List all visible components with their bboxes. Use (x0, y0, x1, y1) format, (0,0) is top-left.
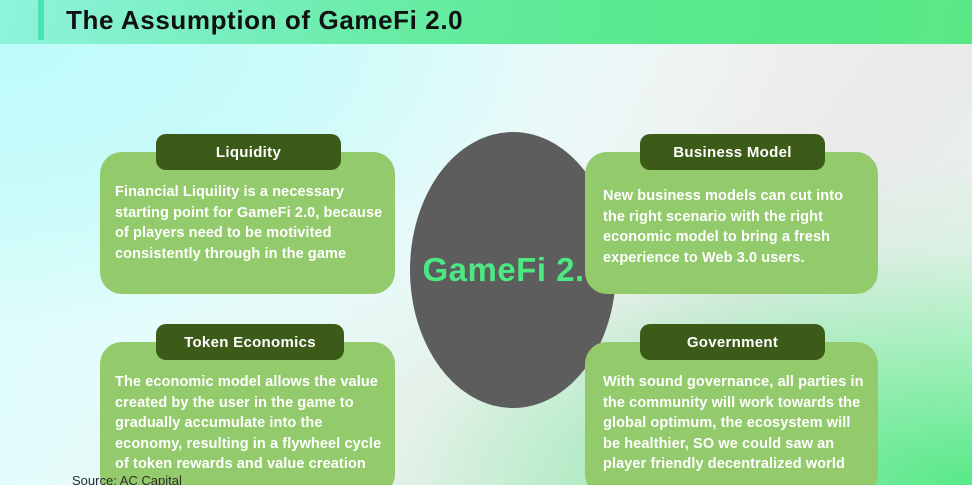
card-government-badge: Government (640, 324, 825, 360)
card-government-text: With sound governance, all parties in th… (603, 372, 871, 475)
card-government: Government With sound governance, all pa… (585, 324, 878, 485)
card-liquidity-badge: Liquidity (156, 134, 341, 170)
card-token-economics-badge: Token Economics (156, 324, 344, 360)
card-liquidity: Liquidity Financial Liquility is a neces… (100, 134, 395, 294)
card-business-model-badge: Business Model (640, 134, 825, 170)
card-liquidity-text: Financial Liquility is a necessary start… (115, 182, 383, 264)
card-token-economics-badge-label: Token Economics (184, 334, 316, 351)
card-token-economics: Token Economics The economic model allow… (100, 324, 395, 485)
header-accent-bar (38, 0, 44, 40)
card-liquidity-badge-label: Liquidity (216, 144, 281, 161)
source-note: Source: AC Capital (72, 473, 182, 485)
card-business-model: Business Model New business models can c… (585, 134, 878, 294)
card-token-economics-text: The economic model allows the value crea… (115, 372, 387, 475)
slide-canvas: GameFi 2.0 Liquidity Financial Liquility… (0, 44, 972, 485)
slide-header: The Assumption of GameFi 2.0 (0, 0, 972, 44)
card-government-badge-label: Government (687, 334, 778, 351)
page-title: The Assumption of GameFi 2.0 (66, 0, 463, 41)
card-business-model-text: New business models can cut into the rig… (603, 186, 865, 268)
card-business-model-badge-label: Business Model (673, 144, 791, 161)
